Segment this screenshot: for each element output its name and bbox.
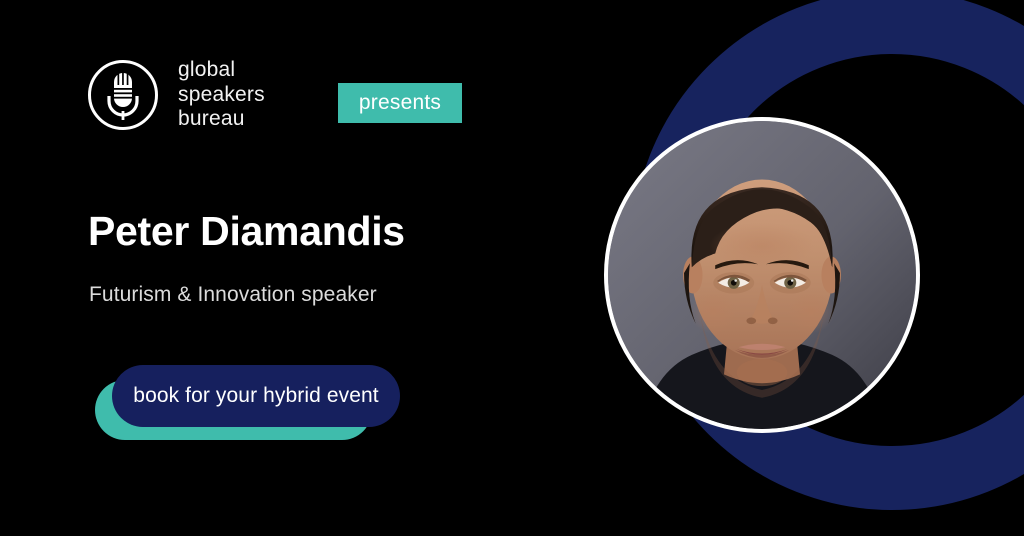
brand-logo[interactable]: global speakers bureau — [86, 58, 265, 132]
microphone-in-circle-icon — [86, 58, 160, 132]
cta-container: book for your hybrid event — [95, 365, 405, 440]
speaker-name: Peter Diamandis — [88, 208, 405, 255]
promo-banner: global speakers bureau presents Peter Di… — [0, 0, 1024, 536]
logo-line-2: speakers — [178, 83, 265, 107]
brand-logo-wordmark: global speakers bureau — [178, 58, 265, 131]
speaker-portrait — [604, 117, 920, 433]
presents-badge: presents — [338, 83, 462, 123]
speaker-role: Futurism & Innovation speaker — [89, 283, 377, 307]
logo-line-3: bureau — [178, 107, 265, 131]
speaker-portrait-image — [608, 121, 916, 429]
presents-label: presents — [359, 91, 441, 115]
book-event-button[interactable]: book for your hybrid event — [112, 365, 400, 427]
logo-line-1: global — [178, 58, 265, 82]
